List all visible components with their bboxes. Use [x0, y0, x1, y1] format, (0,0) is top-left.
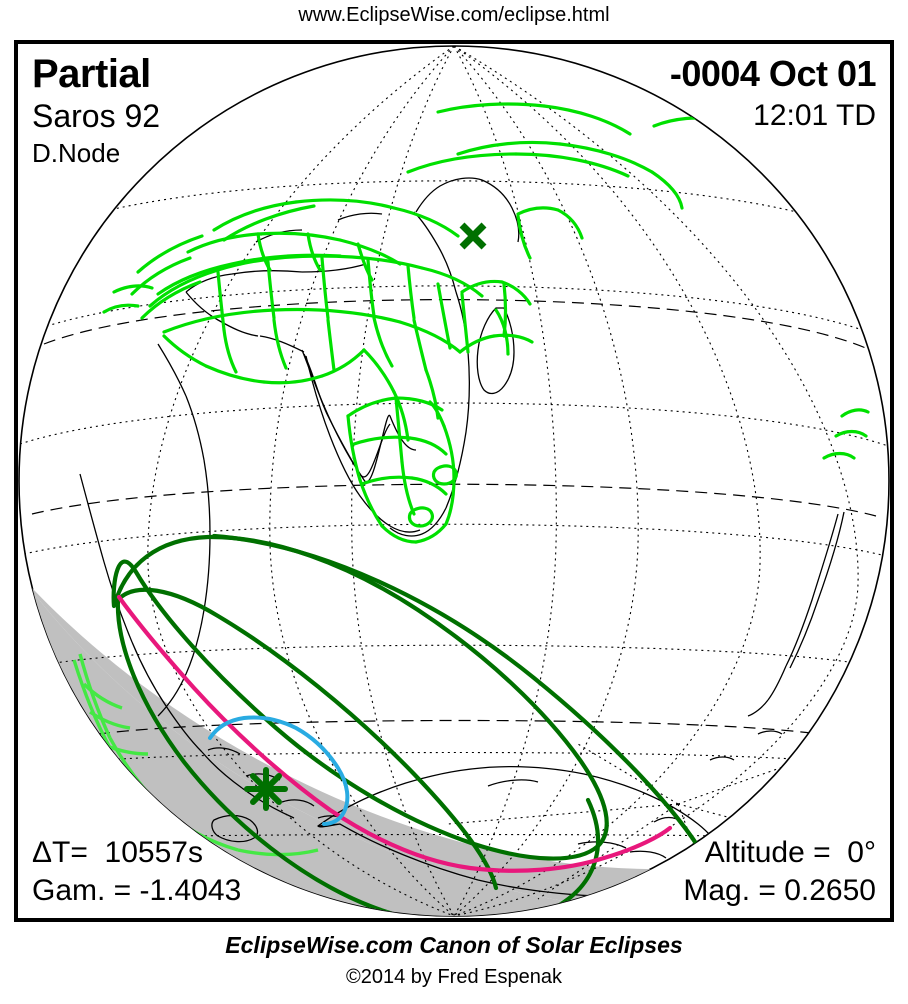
magnitude-label: Mag. = 0.2650	[683, 872, 876, 910]
altitude-label: Altitude = 0°	[683, 834, 876, 872]
header-left-block: Partial Saros 92 D.Node	[32, 52, 160, 170]
map-frame: Partial Saros 92 D.Node -0004 Oct 01 12:…	[14, 40, 894, 922]
eclipse-map-page: www.EclipseWise.com/eclipse.html	[0, 0, 908, 1004]
stats-right-block: Altitude = 0° Mag. = 0.2650	[683, 834, 876, 910]
delta-t-label: ΔT= 10557s	[32, 834, 241, 872]
gamma-label: Gam. = -1.4043	[32, 872, 241, 910]
canon-credit-line: EclipseWise.com Canon of Solar Eclipses	[0, 932, 908, 959]
copyright-line: ©2014 by Fred Espenak	[0, 966, 908, 989]
eclipse-date-label: -0004 Oct 01	[670, 52, 876, 96]
eclipse-time-label: 12:01 TD	[670, 96, 876, 136]
greatest-eclipse-marker	[247, 770, 285, 808]
node-label: D.Node	[32, 136, 160, 170]
url-label: www.EclipseWise.com/eclipse.html	[0, 4, 908, 27]
stats-left-block: ΔT= 10557s Gam. = -1.4043	[32, 834, 241, 910]
saros-label: Saros 92	[32, 96, 160, 136]
header-right-block: -0004 Oct 01 12:01 TD	[670, 52, 876, 136]
eclipse-type-label: Partial	[32, 52, 160, 96]
globe-map	[18, 44, 890, 918]
